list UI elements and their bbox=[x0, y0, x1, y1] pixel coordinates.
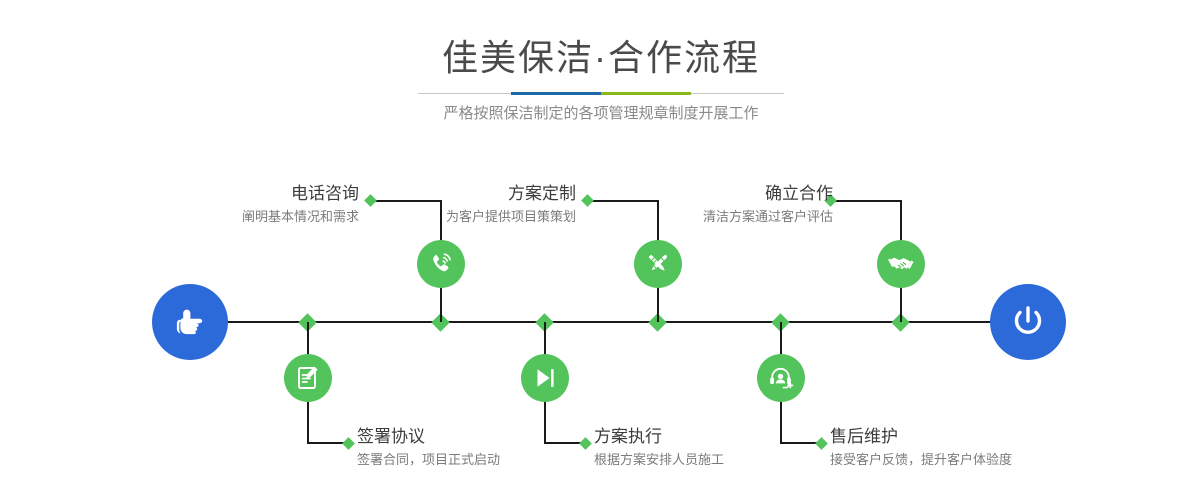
step-4-title: 方案执行 bbox=[594, 426, 724, 448]
step-1-text: 电话咨询 阐明基本情况和需求 bbox=[242, 183, 359, 227]
step-1-stem-horizontal bbox=[373, 200, 441, 202]
handshake-icon bbox=[887, 250, 915, 278]
step-5-title: 确立合作 bbox=[703, 183, 833, 205]
step-6-icon-bubble[interactable] bbox=[757, 354, 805, 402]
title-divider bbox=[418, 92, 784, 95]
step-3-icon-bubble[interactable] bbox=[634, 240, 682, 288]
step-3-title: 方案定制 bbox=[446, 183, 576, 205]
step-6-label-marker bbox=[815, 437, 828, 450]
divider-segment-blue bbox=[511, 92, 601, 95]
document-edit-icon bbox=[294, 364, 322, 392]
page-title: 佳美保洁·合作流程 bbox=[0, 36, 1202, 80]
step-1-desc: 阐明基本情况和需求 bbox=[242, 207, 359, 227]
step-3-stem-horizontal bbox=[590, 200, 658, 202]
step-4-desc: 根据方案安排人员施工 bbox=[594, 450, 724, 470]
header: 佳美保洁·合作流程 严格按照保洁制定的各项管理规章制度开展工作 bbox=[0, 0, 1202, 150]
step-3-label-marker bbox=[581, 194, 594, 207]
step-4-icon-bubble[interactable] bbox=[521, 354, 569, 402]
step-6-title: 售后维护 bbox=[830, 426, 1012, 448]
step-5-stem-horizontal bbox=[833, 200, 901, 202]
step-2-text: 签署协议 签署合同，项目正式启动 bbox=[357, 426, 500, 470]
step-3-text: 方案定制 为客户提供项目策策划 bbox=[446, 183, 576, 227]
pencil-ruler-icon bbox=[644, 250, 672, 278]
step-6-text: 售后维护 接受客户反馈，提升客户体验度 bbox=[830, 426, 1012, 470]
divider-segment-gray-right bbox=[691, 93, 784, 94]
phone-call-icon bbox=[427, 250, 455, 278]
step-6-desc: 接受客户反馈，提升客户体验度 bbox=[830, 450, 1012, 470]
divider-segment-gray-left bbox=[418, 93, 511, 94]
step-5-text: 确立合作 清洁方案通过客户评估 bbox=[703, 183, 833, 227]
step-5-desc: 清洁方案通过客户评估 bbox=[703, 207, 833, 227]
step-2-label-marker bbox=[342, 437, 355, 450]
step-4-text: 方案执行 根据方案安排人员施工 bbox=[594, 426, 724, 470]
timeline: 电话咨询 阐明基本情况和需求 签署协议 签署合同，项目正式启动 bbox=[0, 150, 1202, 502]
step-2-desc: 签署合同，项目正式启动 bbox=[357, 450, 500, 470]
step-1-title: 电话咨询 bbox=[242, 183, 359, 205]
step-3-desc: 为客户提供项目策策划 bbox=[446, 207, 576, 227]
timeline-start-node[interactable] bbox=[152, 284, 228, 360]
play-next-icon bbox=[531, 364, 559, 392]
power-icon bbox=[1007, 301, 1049, 343]
step-4-label-marker bbox=[579, 437, 592, 450]
step-1-icon-bubble[interactable] bbox=[417, 240, 465, 288]
headset-support-icon bbox=[767, 364, 795, 392]
divider-segment-green bbox=[601, 92, 691, 95]
timeline-axis bbox=[155, 321, 1049, 323]
step-2-icon-bubble[interactable] bbox=[284, 354, 332, 402]
step-5-icon-bubble[interactable] bbox=[877, 240, 925, 288]
step-1-label-marker bbox=[364, 194, 377, 207]
hand-pointing-icon bbox=[170, 302, 210, 342]
page-subtitle: 严格按照保洁制定的各项管理规章制度开展工作 bbox=[0, 103, 1202, 125]
timeline-end-node[interactable] bbox=[990, 284, 1066, 360]
step-2-title: 签署协议 bbox=[357, 426, 500, 448]
process-flow-infographic: 佳美保洁·合作流程 严格按照保洁制定的各项管理规章制度开展工作 bbox=[0, 0, 1202, 502]
